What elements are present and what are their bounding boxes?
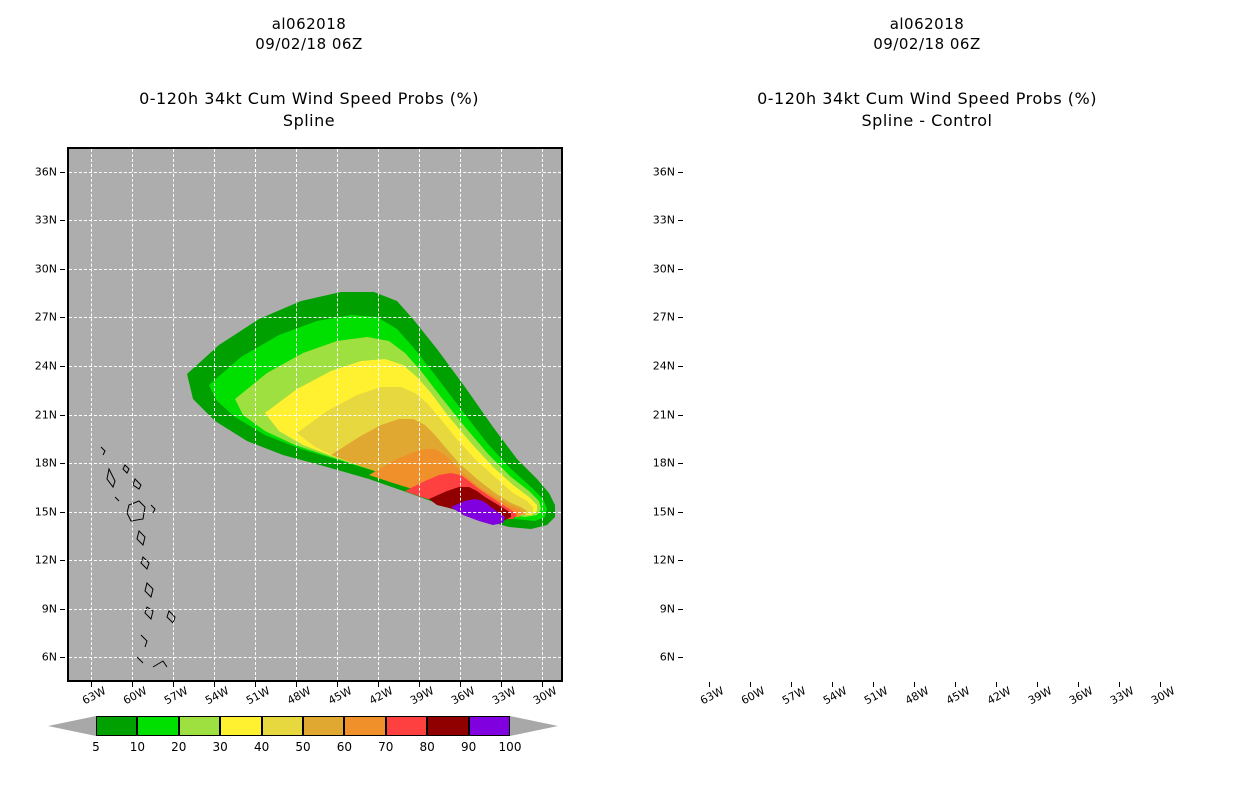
- xtick-mark: [337, 682, 338, 687]
- left-coastlines: [69, 149, 561, 680]
- ytick-mark: [678, 415, 683, 416]
- xtick-mark: [542, 682, 543, 687]
- ytick-33N: 33N: [641, 214, 675, 227]
- colorbar-probability-tick-100: 100: [499, 740, 522, 754]
- colorbar-probability-band-0[interactable]: [96, 716, 137, 736]
- xtick-42W: 42W: [367, 684, 395, 707]
- colorbar-probability-over-arrow: [510, 716, 558, 736]
- xtick-mark: [214, 682, 215, 687]
- ytick-mark: [60, 657, 65, 658]
- xtick-mark: [91, 682, 92, 687]
- colorbar-probability-band-5[interactable]: [303, 716, 344, 736]
- colorbar-probability[interactable]: 5102030405060708090100: [48, 714, 558, 764]
- ytick-mark: [678, 609, 683, 610]
- xtick-mark: [255, 682, 256, 687]
- ytick-24N: 24N: [641, 359, 675, 372]
- ytick-mark: [60, 269, 65, 270]
- xtick-mark: [750, 682, 751, 687]
- colorbar-probability-band-9[interactable]: [469, 716, 510, 736]
- right-title-block: 0-120h 34kt Cum Wind Speed Probs (%) Spl…: [618, 88, 1236, 132]
- colorbar-probability-tick-60: 60: [337, 740, 352, 754]
- ytick-mark: [678, 560, 683, 561]
- xtick-mark: [1119, 682, 1120, 687]
- ytick-24N: 24N: [23, 359, 57, 372]
- right-subtitle: Spline - Control: [618, 110, 1236, 132]
- xtick-48W: 48W: [285, 684, 313, 707]
- ytick-mark: [60, 366, 65, 367]
- ytick-15N: 15N: [23, 505, 57, 518]
- left-title: 0-120h 34kt Cum Wind Speed Probs (%): [0, 88, 618, 110]
- xtick-mark: [996, 682, 997, 687]
- ytick-mark: [60, 512, 65, 513]
- xtick-39W: 39W: [1026, 684, 1054, 707]
- ytick-27N: 27N: [641, 311, 675, 324]
- xtick-mark: [709, 682, 710, 687]
- colorbar-probability-tick-40: 40: [254, 740, 269, 754]
- ytick-21N: 21N: [23, 408, 57, 421]
- ytick-12N: 12N: [23, 554, 57, 567]
- ytick-18N: 18N: [641, 457, 675, 470]
- xtick-30W: 30W: [531, 684, 559, 707]
- xtick-mark: [296, 682, 297, 687]
- ytick-21N: 21N: [641, 408, 675, 421]
- xtick-54W: 54W: [203, 684, 231, 707]
- ytick-mark: [678, 512, 683, 513]
- colorbar-probability-tick-90: 90: [461, 740, 476, 754]
- xtick-45W: 45W: [326, 684, 354, 707]
- ytick-mark: [678, 172, 683, 173]
- xtick-57W: 57W: [162, 684, 190, 707]
- ytick-mark: [60, 560, 65, 561]
- colorbar-probability-band-4[interactable]: [262, 716, 303, 736]
- xtick-39W: 39W: [408, 684, 436, 707]
- xtick-33W: 33W: [490, 684, 518, 707]
- colorbar-probability-tick-80: 80: [420, 740, 435, 754]
- xtick-mark: [955, 682, 956, 687]
- xtick-57W: 57W: [780, 684, 808, 707]
- ytick-mark: [678, 317, 683, 318]
- colorbar-probability-band-8[interactable]: [427, 716, 468, 736]
- ytick-mark: [678, 220, 683, 221]
- xtick-mark: [914, 682, 915, 687]
- ytick-mark: [60, 220, 65, 221]
- xtick-60W: 60W: [121, 684, 149, 707]
- xtick-mark: [1160, 682, 1161, 687]
- xtick-mark: [173, 682, 174, 687]
- ytick-6N: 6N: [23, 651, 57, 664]
- right-title: 0-120h 34kt Cum Wind Speed Probs (%): [618, 88, 1236, 110]
- right-storm-id: al062018: [618, 14, 1236, 34]
- colorbar-probability-tick-30: 30: [213, 740, 228, 754]
- colorbar-probability-bands: [48, 714, 558, 738]
- ytick-30N: 30N: [23, 262, 57, 275]
- xtick-mark: [832, 682, 833, 687]
- colorbar-probability-band-6[interactable]: [344, 716, 385, 736]
- ytick-9N: 9N: [641, 602, 675, 615]
- ytick-30N: 30N: [641, 262, 675, 275]
- ytick-mark: [678, 269, 683, 270]
- xtick-mark: [1037, 682, 1038, 687]
- xtick-33W: 33W: [1108, 684, 1136, 707]
- right-header: al062018 09/02/18 06Z: [618, 14, 1236, 54]
- ytick-mark: [60, 609, 65, 610]
- colorbar-probability-tick-50: 50: [295, 740, 310, 754]
- xtick-51W: 51W: [862, 684, 890, 707]
- xtick-36W: 36W: [1067, 684, 1095, 707]
- xtick-36W: 36W: [449, 684, 477, 707]
- ytick-mark: [678, 463, 683, 464]
- xtick-mark: [419, 682, 420, 687]
- xtick-42W: 42W: [985, 684, 1013, 707]
- xtick-mark: [873, 682, 874, 687]
- xtick-mark: [1078, 682, 1079, 687]
- left-title-block: 0-120h 34kt Cum Wind Speed Probs (%) Spl…: [0, 88, 618, 132]
- ytick-mark: [60, 463, 65, 464]
- colorbar-probability-tick-20: 20: [171, 740, 186, 754]
- colorbar-probability-tick-5: 5: [92, 740, 100, 754]
- xtick-mark: [132, 682, 133, 687]
- colorbar-probability-band-3[interactable]: [220, 716, 261, 736]
- xtick-48W: 48W: [903, 684, 931, 707]
- xtick-54W: 54W: [821, 684, 849, 707]
- panel-spline: al062018 09/02/18 06Z 0-120h 34kt Cum Wi…: [0, 0, 618, 800]
- left-header: al062018 09/02/18 06Z: [0, 14, 618, 54]
- colorbar-probability-tick-10: 10: [130, 740, 145, 754]
- ytick-mark: [60, 172, 65, 173]
- colorbar-probability-band-1[interactable]: [137, 716, 178, 736]
- ytick-6N: 6N: [641, 651, 675, 664]
- left-subtitle: Spline: [0, 110, 618, 132]
- ytick-9N: 9N: [23, 602, 57, 615]
- ytick-36N: 36N: [23, 165, 57, 178]
- colorbar-probability-band-2[interactable]: [179, 716, 220, 736]
- ytick-36N: 36N: [641, 165, 675, 178]
- xtick-mark: [501, 682, 502, 687]
- xtick-63W: 63W: [698, 684, 726, 707]
- ytick-mark: [60, 415, 65, 416]
- ytick-mark: [678, 657, 683, 658]
- xtick-30W: 30W: [1149, 684, 1177, 707]
- xtick-mark: [791, 682, 792, 687]
- right-datetime: 09/02/18 06Z: [618, 34, 1236, 54]
- xtick-60W: 60W: [739, 684, 767, 707]
- ytick-mark: [60, 317, 65, 318]
- xtick-45W: 45W: [944, 684, 972, 707]
- colorbar-probability-tick-70: 70: [378, 740, 393, 754]
- xtick-mark: [378, 682, 379, 687]
- panel-spline-minus-control: al062018 09/02/18 06Z 0-120h 34kt Cum Wi…: [618, 0, 1236, 800]
- ytick-18N: 18N: [23, 457, 57, 470]
- xtick-63W: 63W: [80, 684, 108, 707]
- xtick-mark: [460, 682, 461, 687]
- colorbar-probability-under-arrow: [48, 716, 96, 736]
- map-plot-spline[interactable]: [67, 147, 563, 682]
- ytick-mark: [678, 366, 683, 367]
- left-datetime: 09/02/18 06Z: [0, 34, 618, 54]
- ytick-12N: 12N: [641, 554, 675, 567]
- colorbar-probability-band-7[interactable]: [386, 716, 427, 736]
- ytick-15N: 15N: [641, 505, 675, 518]
- ytick-27N: 27N: [23, 311, 57, 324]
- ytick-33N: 33N: [23, 214, 57, 227]
- left-storm-id: al062018: [0, 14, 618, 34]
- xtick-51W: 51W: [244, 684, 272, 707]
